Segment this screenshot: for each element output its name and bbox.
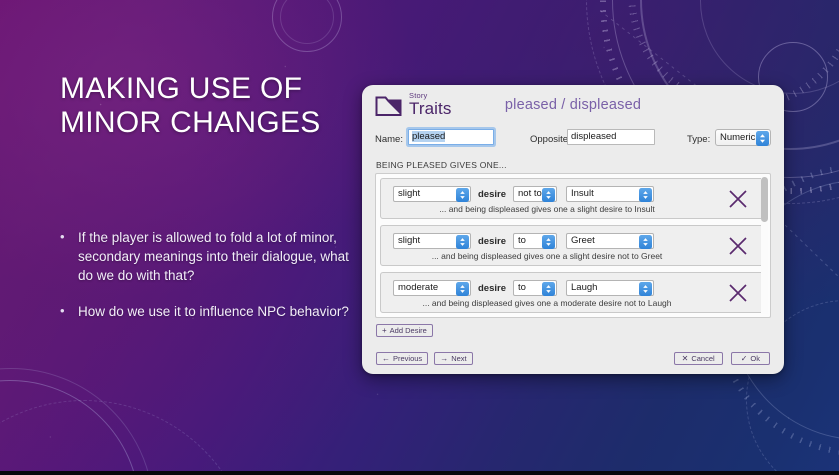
bullet-marker-icon: •	[60, 228, 78, 285]
strength-select[interactable]: slight	[393, 186, 471, 202]
chevron-updown-glyph	[641, 190, 650, 200]
desire-subtext: ... and being displeased gives one a mod…	[381, 298, 713, 308]
chevron-updown-glyph	[544, 284, 553, 294]
dialog-footer: ← Previous → Next ✕ Cancel ✓ Ok	[376, 352, 770, 365]
polarity-value: to	[518, 282, 526, 293]
arrow-left-icon: ←	[382, 355, 390, 363]
strength-select[interactable]: moderate	[393, 280, 471, 296]
slide-title: MAKING USE OF MINOR CHANGES	[60, 72, 321, 140]
add-desire-row: + Add Desire	[376, 324, 784, 337]
add-desire-label: Add Desire	[390, 325, 427, 336]
ok-button[interactable]: ✓ Ok	[731, 352, 770, 365]
check-icon: ✓	[741, 355, 748, 363]
arc-decoration-bottom-left	[0, 380, 140, 475]
name-input-value: pleased	[412, 131, 445, 142]
chevron-updown-icon[interactable]	[456, 188, 469, 202]
arc-decoration-bottom-left-2	[0, 368, 154, 475]
arc-decoration-top-right-c	[700, 0, 839, 94]
chevron-updown-glyph	[458, 237, 467, 247]
story-traits-dialog: Story Traits pleased / displeased Name: …	[362, 85, 784, 374]
chevron-updown-glyph	[544, 237, 553, 247]
desire-controls: moderate desire to	[393, 280, 654, 296]
polarity-select[interactable]: not to	[513, 186, 557, 202]
slide-bullet-list: • If the player is allowed to fold a lot…	[60, 228, 360, 339]
action-value: Insult	[571, 188, 594, 199]
desire-subtext: ... and being displeased gives one a sli…	[381, 251, 713, 261]
x-mark-icon: ✕	[682, 355, 689, 363]
ring-decoration-top-left	[272, 0, 342, 52]
desire-word: desire	[478, 189, 506, 200]
dialog-title: pleased / displeased	[362, 97, 784, 113]
name-label: Name:	[375, 134, 403, 145]
opposite-label: Opposite:	[530, 134, 571, 145]
strength-select[interactable]: slight	[393, 233, 471, 249]
desires-list-inner: slight desire not to	[376, 174, 770, 318]
previous-label: Previous	[393, 353, 422, 364]
bullet-text: If the player is allowed to fold a lot o…	[78, 228, 360, 285]
action-value: Laugh	[571, 282, 597, 293]
trait-fields-row: Name: pleased Opposite: displeased Type:…	[375, 129, 771, 151]
polarity-value: not to	[518, 188, 542, 199]
chevron-updown-glyph	[458, 284, 467, 294]
polarity-value: to	[518, 235, 526, 246]
table-row[interactable]: slight desire to	[380, 225, 766, 266]
close-x-icon[interactable]	[727, 282, 749, 304]
chevron-updown-glyph	[641, 237, 650, 247]
chevron-updown-icon[interactable]	[542, 235, 555, 249]
desire-subtext: ... and being displeased gives one a sli…	[381, 204, 713, 214]
scrollbar-thumb[interactable]	[761, 177, 768, 222]
opposite-input[interactable]: displeased	[567, 129, 655, 145]
desire-controls: slight desire not to	[393, 186, 654, 202]
name-input[interactable]: pleased	[408, 129, 494, 145]
add-desire-button[interactable]: + Add Desire	[376, 324, 433, 337]
type-select-value: Numeric	[720, 132, 755, 143]
chevron-updown-icon[interactable]	[639, 282, 652, 296]
action-select[interactable]: Laugh	[566, 280, 654, 296]
chevron-updown-icon[interactable]	[639, 235, 652, 249]
chevron-updown-icon[interactable]	[456, 282, 469, 296]
strength-value: moderate	[398, 282, 438, 293]
arrow-right-icon: →	[440, 355, 448, 363]
action-select[interactable]: Insult	[566, 186, 654, 202]
chevron-updown-glyph	[544, 190, 553, 200]
chevron-updown-icon[interactable]	[542, 282, 555, 296]
list-item: • If the player is allowed to fold a lot…	[60, 228, 360, 285]
list-item: • How do we use it to influence NPC beha…	[60, 302, 360, 321]
footer-nav-buttons: ← Previous → Next	[376, 352, 473, 365]
strength-value: slight	[398, 188, 420, 199]
footer-action-buttons: ✕ Cancel ✓ Ok	[674, 352, 770, 365]
cancel-label: Cancel	[691, 353, 714, 364]
table-row[interactable]: slight desire not to	[380, 178, 766, 219]
opposite-input-value: displeased	[571, 131, 616, 142]
chevron-updown-glyph	[758, 133, 767, 144]
bullet-marker-icon: •	[60, 302, 78, 321]
previous-button[interactable]: ← Previous	[376, 352, 428, 365]
chevron-updown-glyph	[458, 190, 467, 200]
bottom-letterbox-strip	[0, 471, 839, 475]
chevron-updown-icon[interactable]	[456, 235, 469, 249]
arc-decoration-bottom-left-dashed	[0, 400, 254, 475]
desire-word: desire	[478, 283, 506, 294]
cancel-button[interactable]: ✕ Cancel	[674, 352, 723, 365]
desires-scrollbar[interactable]	[761, 177, 768, 314]
strength-value: slight	[398, 235, 420, 246]
ring-decoration-top-left-inner	[280, 0, 334, 44]
type-label: Type:	[687, 134, 710, 145]
section-label: BEING PLEASED GIVES ONE...	[376, 160, 784, 170]
desire-controls: slight desire to	[393, 233, 654, 249]
chevron-updown-icon[interactable]	[756, 131, 769, 146]
table-row[interactable]: moderate desire to	[380, 272, 766, 313]
chevron-updown-icon[interactable]	[542, 188, 555, 202]
desires-list: slight desire not to	[375, 173, 771, 318]
polarity-select[interactable]: to	[513, 233, 557, 249]
action-select[interactable]: Greet	[566, 233, 654, 249]
action-value: Greet	[571, 235, 595, 246]
desire-word: desire	[478, 236, 506, 247]
close-x-icon[interactable]	[727, 235, 749, 257]
ok-label: Ok	[750, 353, 760, 364]
chevron-updown-glyph	[641, 284, 650, 294]
type-select[interactable]: Numeric	[715, 129, 771, 146]
plus-icon: +	[382, 327, 387, 335]
next-label: Next	[451, 353, 466, 364]
chevron-updown-icon[interactable]	[639, 188, 652, 202]
dialog-header: Story Traits pleased / displeased	[362, 85, 784, 127]
close-x-icon[interactable]	[727, 188, 749, 210]
bullet-text: How do we use it to influence NPC behavi…	[78, 302, 360, 321]
next-button[interactable]: → Next	[434, 352, 472, 365]
presentation-slide: MAKING USE OF MINOR CHANGES • If the pla…	[0, 0, 839, 475]
polarity-select[interactable]: to	[513, 280, 557, 296]
